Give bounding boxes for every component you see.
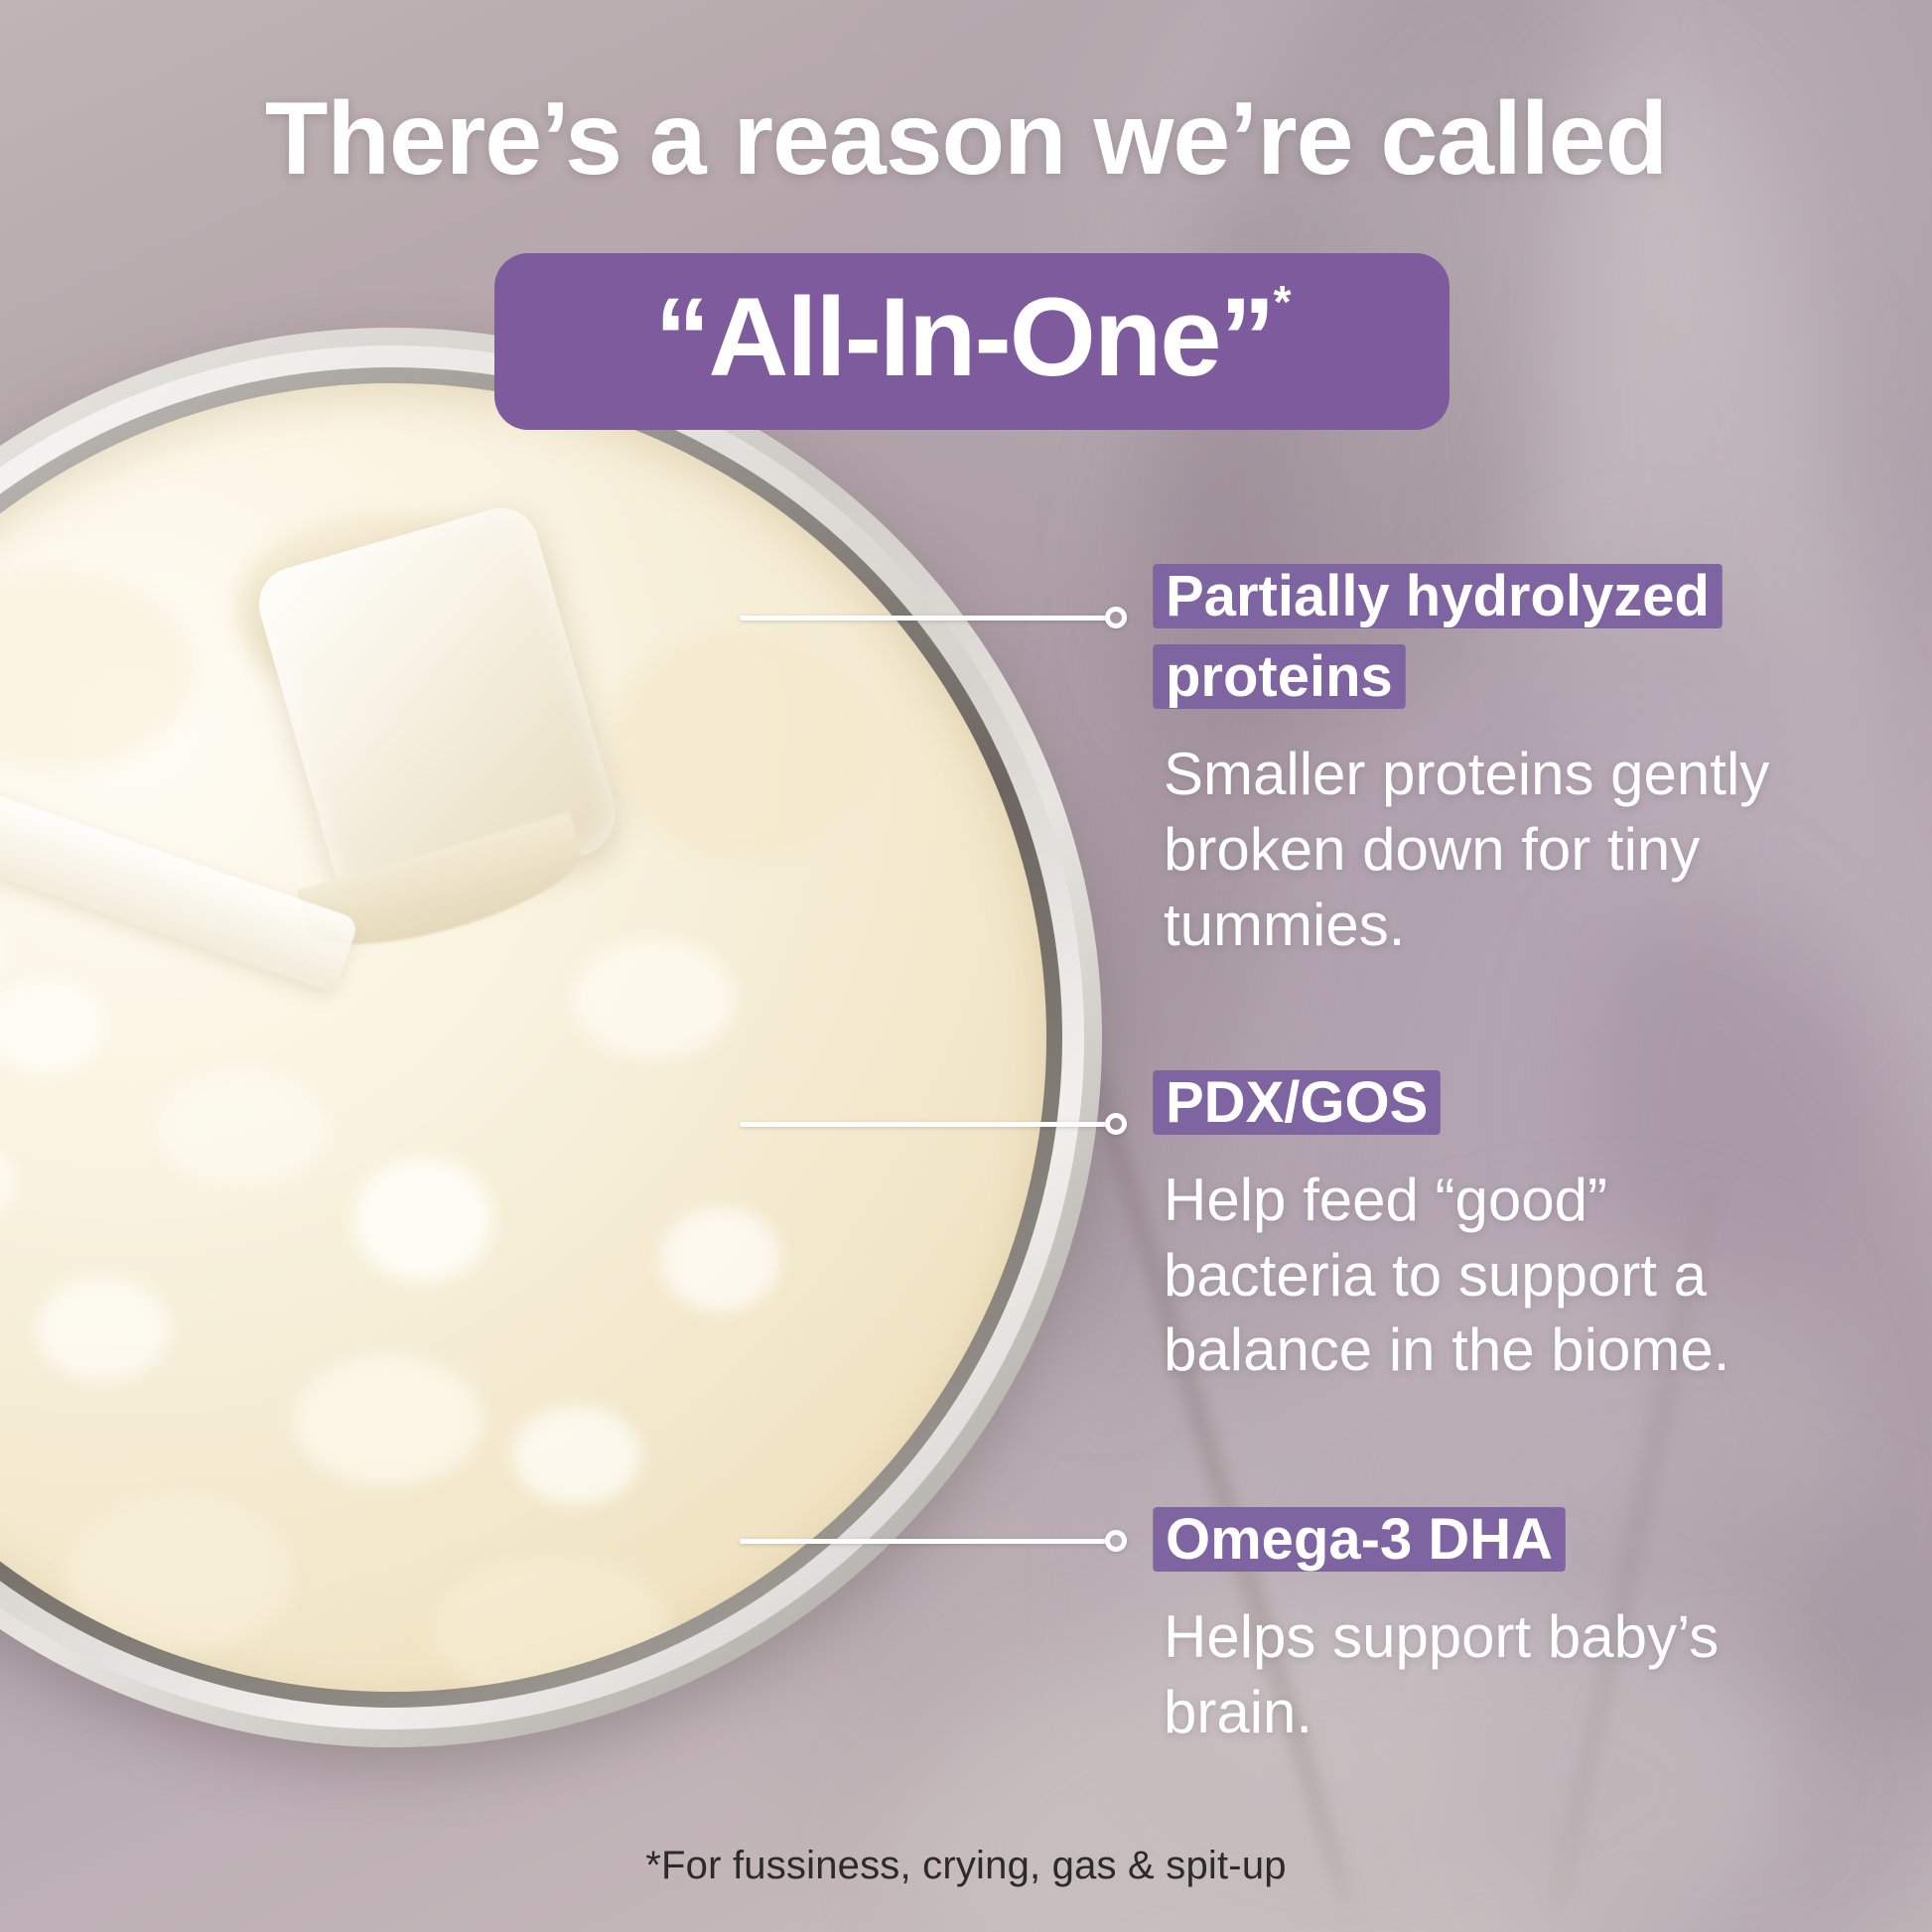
callout-label-wrapper: Partially hydrolyzed proteins — [1164, 556, 1819, 717]
formula-can-image — [0, 328, 1102, 1747]
callout-label-proteins: Partially hydrolyzed proteins — [1166, 564, 1710, 709]
callout-body-pdxgos: Help feed “good” bacteria to support a b… — [1164, 1163, 1819, 1388]
leader-line-pdxgos — [740, 1122, 1127, 1123]
callout-label-wrapper: PDX/GOS — [1164, 1062, 1819, 1143]
all-in-one-badge: “All-In-One”* — [494, 253, 1449, 430]
callout-pdx-gos: PDX/GOS Help feed “good” bacteria to sup… — [1164, 1062, 1819, 1388]
callout-body-proteins: Smaller proteins gently broken down for … — [1164, 737, 1819, 962]
headline-line-1: There’s a reason we’re called — [0, 85, 1932, 193]
leader-line-proteins — [740, 616, 1127, 617]
leader-stroke — [740, 616, 1109, 621]
callout-body-dha: Helps support baby’s brain. — [1164, 1599, 1819, 1749]
leader-line-dha — [740, 1539, 1127, 1540]
leader-stroke — [740, 1122, 1109, 1127]
all-in-one-label: “All-In-One” — [655, 275, 1274, 399]
callout-label-wrapper: Omega-3 DHA — [1164, 1499, 1819, 1580]
callout-label-pdxgos: PDX/GOS — [1166, 1070, 1428, 1135]
all-in-one-badge-text: “All-In-One”* — [655, 282, 1290, 393]
footnote-text: *For fussiness, crying, gas & spit-up — [0, 1844, 1932, 1888]
infographic-canvas: There’s a reason we’re called “All-In-On… — [0, 0, 1932, 1932]
callout-omega-3-dha: Omega-3 DHA Helps support baby’s brain. — [1164, 1499, 1819, 1749]
leader-endpoint-circle-icon — [1105, 1530, 1127, 1552]
callout-partially-hydrolyzed-proteins: Partially hydrolyzed proteins Smaller pr… — [1164, 556, 1819, 962]
callout-label-dha: Omega-3 DHA — [1166, 1507, 1553, 1572]
leader-stroke — [740, 1539, 1109, 1544]
leader-endpoint-circle-icon — [1105, 1113, 1127, 1135]
asterisk-marker: * — [1274, 276, 1290, 328]
leader-endpoint-circle-icon — [1105, 607, 1127, 628]
